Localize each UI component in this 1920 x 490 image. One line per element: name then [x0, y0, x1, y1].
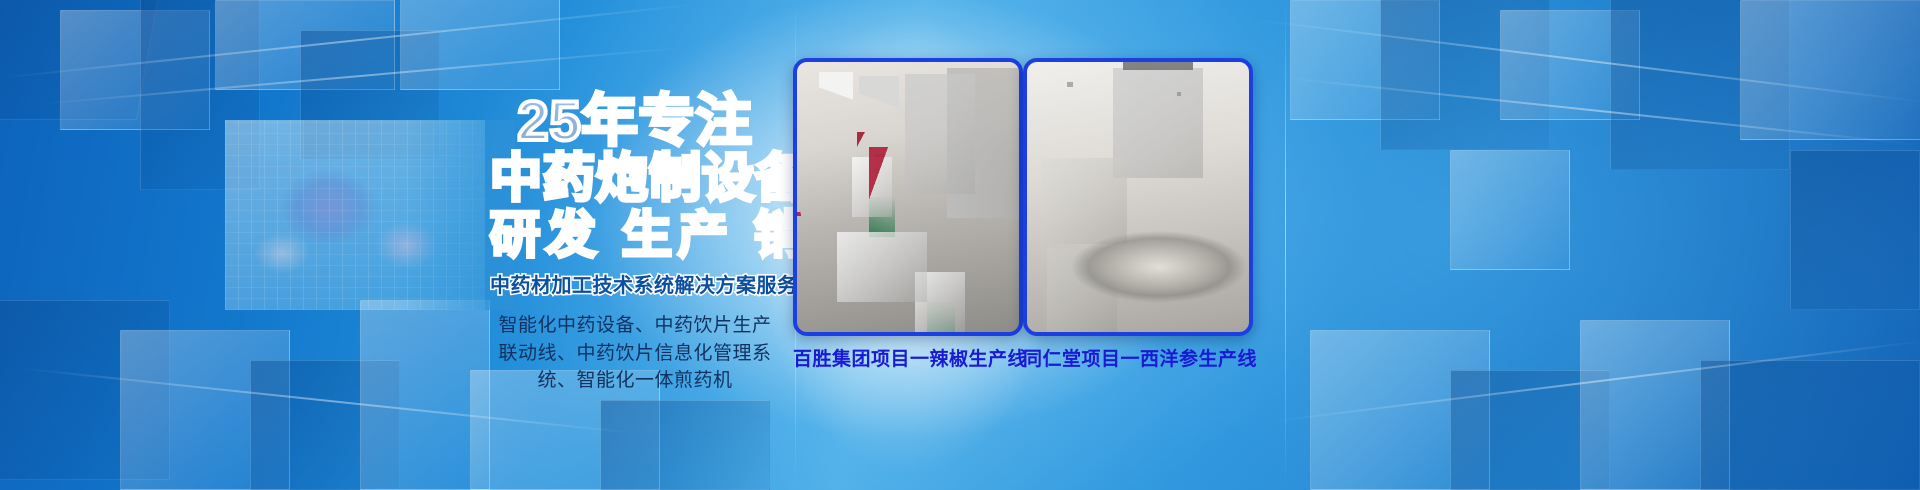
bg-divider-line — [1285, 0, 1286, 490]
headline-line-2: 中药炮制设备 — [490, 153, 780, 206]
headline-line-3: 研发 生产 销售 — [490, 210, 780, 261]
photo-card-ginseng[interactable]: 同仁堂项目一西洋参生产线 — [1023, 58, 1257, 371]
chili-production-line-photo — [793, 58, 1023, 336]
banner-description: 智能化中药设备、中药饮片生产联动线、中药饮片信息化管理系统、智能化一体煎药机 — [490, 312, 780, 395]
herbs-image-fade-overlay — [225, 120, 515, 310]
bg-shape — [1740, 0, 1920, 140]
photo-caption-ginseng: 同仁堂项目一西洋参生产线 — [1023, 344, 1257, 371]
photo-card-chili[interactable]: 百胜集团项目一辣椒生产线 — [793, 58, 1027, 371]
banner-subtitle: 中药材加工技术系统解决方案服务商 — [490, 269, 780, 298]
ginseng-production-line-photo — [1023, 58, 1253, 336]
bg-shape — [1450, 150, 1570, 270]
photo-caption-chili: 百胜集团项目一辣椒生产线 — [793, 344, 1027, 371]
bg-shape — [1700, 360, 1920, 490]
headline-line-1: 25年专注 — [490, 92, 780, 149]
bg-shape — [400, 0, 560, 90]
promo-banner: 25年专注 中药炮制设备 研发 生产 销售 中药材加工技术系统解决方案服务商 智… — [0, 0, 1920, 490]
headline-text-block: 25年专注 中药炮制设备 研发 生产 销售 中药材加工技术系统解决方案服务商 智… — [490, 92, 780, 395]
bg-shape — [1790, 150, 1920, 310]
